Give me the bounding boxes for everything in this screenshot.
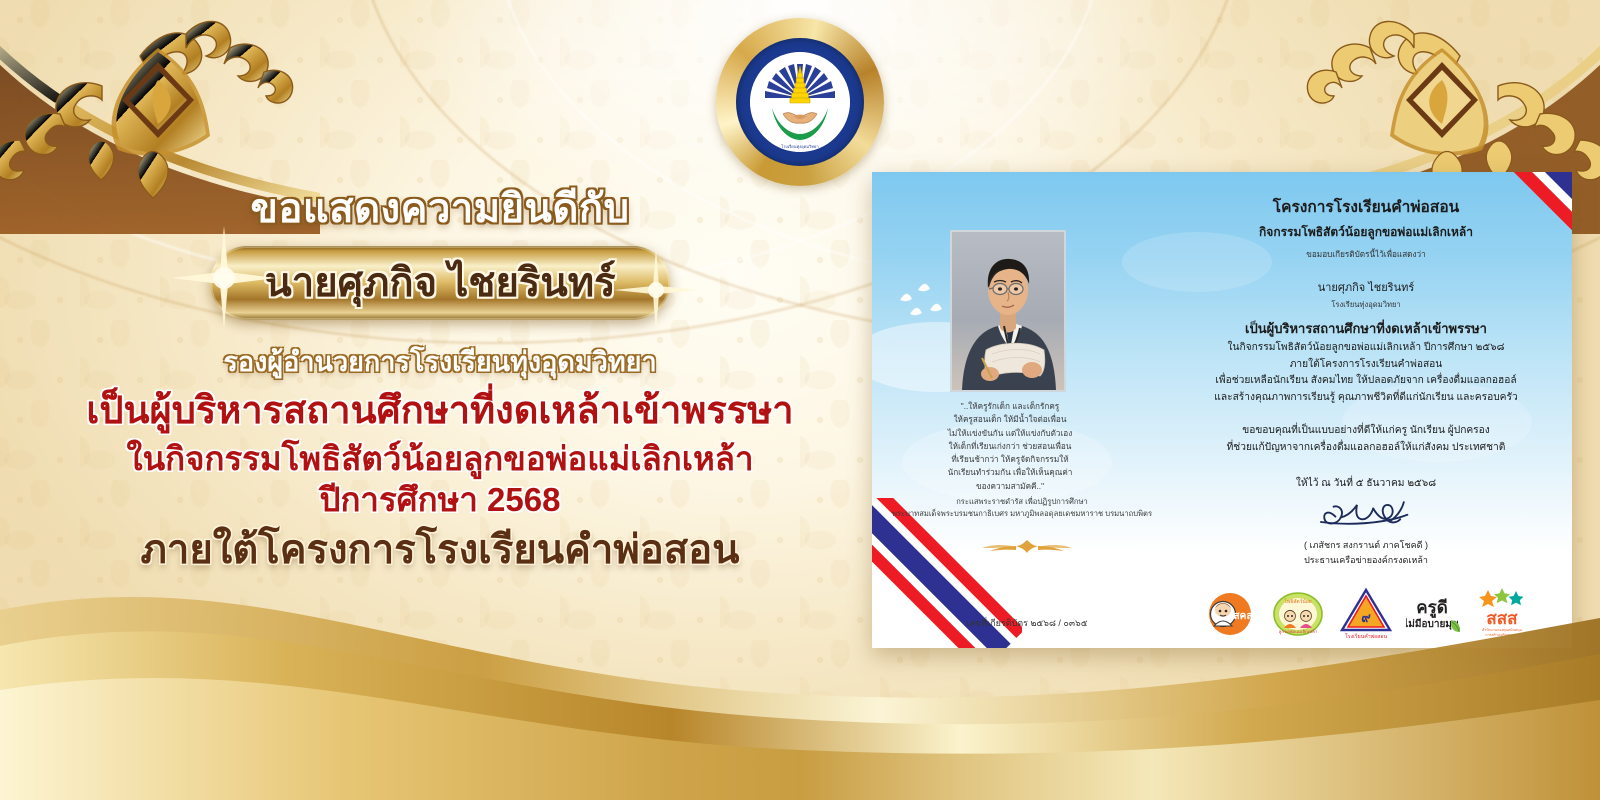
- sorkorlor-logo: สคล: [1202, 586, 1258, 640]
- certificate-number: เลขที่เกียรติบัตร ๒๕๖๘ / ๐๓๖๕: [902, 616, 1152, 630]
- royal-quote: "..ให้ครูรักเด็ก และเด็กรักครู ให้ครูสอน…: [890, 400, 1130, 493]
- partner-logo-row: สคล โพธิสัตว์น้อย: [1172, 582, 1560, 640]
- congratulation-banner: โรงเรียนทุ่งอุดมวิทยา ขอแสดงความยินดีกับ…: [0, 0, 1600, 800]
- certificate-card: "..ให้ครูรักเด็ก และเด็กรักครู ให้ครูสอน…: [872, 172, 1572, 648]
- certificate-thanks-1: ขอขอบคุณที่เป็นแบบอย่างที่ดีให้แก่ครู นั…: [1172, 424, 1560, 439]
- attribution-line-2: พระบาทสมเด็จพระบรมชนกาธิเบศร มหาภูมิพลอด…: [882, 508, 1162, 520]
- certificate-detail-4: และสร้างคุณภาพการเรียนรู้ คุณภาพชีวิตที่…: [1172, 391, 1560, 405]
- quote-line: นักเรียนทำร่วมกัน เพื่อให้เห็นคุณค่า: [890, 466, 1130, 479]
- certificate-activity-title: กิจกรรมโพธิสัตว์น้อยลูกขอพ่อแม่เลิกเหล้า: [1172, 223, 1560, 242]
- certificate-award-intro: ขอมอบเกียรติบัตรนี้ไว้เพื่อแสดงว่า: [1172, 248, 1560, 261]
- certificate-main-text: โครงการโรงเรียนคำพ่อสอน กิจกรรมโพธิสัตว์…: [1172, 198, 1560, 567]
- kampoosorn-school-logo: ๙ โรงเรียนคำพ่อสอน: [1338, 586, 1394, 640]
- svg-text:ครูดี: ครูดี: [1416, 597, 1448, 619]
- seal-disc: โรงเรียนทุ่งอุดมวิทยา: [750, 52, 850, 152]
- certificate-recipient-role: เป็นผู้บริหารสถานศึกษาที่งดเหล้าเข้าพรรษ…: [1172, 318, 1560, 339]
- seal-inner-ring: โรงเรียนทุ่งอุดมวิทยา: [736, 38, 864, 166]
- attribution-line-1: กระแสพระราชดำรัส เพื่อปฏิรูปการศึกษา: [882, 496, 1162, 508]
- kampoosorn-logo-text: โรงเรียนคำพ่อสอน: [1345, 633, 1387, 640]
- award-line-1: เป็นผู้บริหารสถานศึกษาที่งดเหล้าเข้าพรรษ…: [0, 389, 880, 434]
- congrats-heading: ขอแสดงความยินดีกับ: [0, 186, 880, 232]
- honoree-name: นายศุภกิจ ไชยรินทร์: [210, 246, 670, 320]
- certificate-signer-name: ( เภสัชกร สงกรานต์ ภาคโชคดี ): [1172, 538, 1560, 552]
- certificate-detail-1: ในกิจกรรมโพธิสัตว์น้อยลูกขอพ่อแม่เลิกเหล…: [1172, 341, 1560, 355]
- award-line-3: ปีการศึกษา 2568: [0, 481, 880, 520]
- project-line: ภายใต้โครงการโรงเรียนคำพ่อสอน: [0, 528, 880, 572]
- svg-text:๙: ๙: [1361, 610, 1371, 625]
- certificate-issue-date: ให้ไว้ ณ วันที่ ๕ ธันวาคม ๒๕๖๘: [1172, 475, 1560, 491]
- certificate-project-title: โครงการโรงเรียนคำพ่อสอน: [1172, 198, 1560, 218]
- king-portrait: [950, 230, 1066, 392]
- certificate-detail-2: ภายใต้โครงการโรงเรียนคำพ่อสอน: [1172, 358, 1560, 372]
- quote-line: ให้เด็กที่เรียนเก่งกว่า ช่วยสอนเพื่อน: [890, 440, 1130, 453]
- quote-line: ให้ครูสอนเด็ก ให้มีน้ำใจต่อเพื่อน: [890, 413, 1130, 426]
- quote-line: "..ให้ครูรักเด็ก และเด็กรักครู: [890, 400, 1130, 413]
- award-line-2: ในกิจกรรมโพธิสัตว์น้อยลูกขอพ่อแม่เลิกเหล…: [0, 440, 880, 479]
- kru-dee-logo: ครูดี ไม่มีอบายมุข: [1406, 586, 1462, 640]
- banner-text-column: ขอแสดงความยินดีกับ นายศุภกิจ ไชยรินทร์ ร…: [0, 186, 880, 572]
- sss-thaihealth-logo: สสส สำนักงานกองทุนสนับสนุน การสร้างเสริม…: [1474, 586, 1530, 640]
- honoree-name-plaque: นายศุภกิจ ไชยรินทร์: [210, 246, 670, 320]
- certificate-signer-title: ประธานเครือข่ายองค์กรงดเหล้า: [1172, 553, 1560, 567]
- certificate-thanks-2: ที่ช่วยแก้ปัญหาจากเครื่องดื่มแอลกอฮอล์ให…: [1172, 441, 1560, 455]
- signature-mark: [1294, 495, 1438, 531]
- quote-attribution: กระแสพระราชดำรัส เพื่อปฏิรูปการศึกษา พระ…: [882, 496, 1162, 520]
- certificate-detail-3: เพื่อช่วยเหลือนักเรียน สังคมไทย ให้ปลอดภ…: [1172, 374, 1560, 388]
- quote-line: ของความสามัคคี..": [890, 480, 1130, 493]
- certificate-recipient-school: โรงเรียนทุ่งอุดมวิทยา: [1172, 299, 1560, 311]
- divider-ornament-icon: [972, 538, 1082, 554]
- svg-text:โพธิสัตว์น้อย: โพธิสัตว์น้อย: [1284, 598, 1312, 605]
- sorkorlor-logo-text: สคล: [1234, 611, 1253, 622]
- school-seal: โรงเรียนทุ่งอุดมวิทยา: [716, 18, 884, 186]
- quote-line: ที่เรียนช้ากว่า ให้ครูจัดกิจกรรมให้: [890, 453, 1130, 466]
- bodhisattva-kids-logo: โพธิสัตว์น้อย ลูกขอพ่อแม่เลิกเหล้า: [1270, 586, 1326, 640]
- quote-line: ไม่ให้แข่งขันกัน แต่ให้แข่งกับตัวเอง: [890, 427, 1130, 440]
- honoree-role: รองผู้อำนวยการโรงเรียนทุ่งอุดมวิทยา: [0, 340, 880, 383]
- sss-logo-text: สสส: [1486, 609, 1518, 628]
- svg-text:การสร้างเสริมสุขภาพ: การสร้างเสริมสุขภาพ: [1485, 632, 1519, 638]
- certificate-recipient-name: นายศุภกิจ ไชยรินทร์: [1172, 278, 1560, 296]
